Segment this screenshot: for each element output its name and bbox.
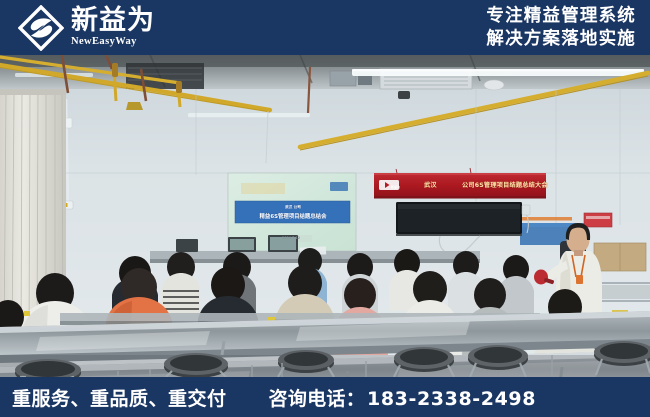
page-footer: 重服务、重品质、重交付 咨询电话： 183-2338-2498 — [0, 377, 650, 417]
brand-name-en: NewEasyWay — [71, 36, 137, 48]
slogan-line-2: 解决方案落地实施 — [486, 28, 636, 51]
meeting-room-photo: 武汉 公司 精益6S管理项目结题总结会 2024.7.12 新益为 武汉 公司6… — [0, 55, 650, 377]
promotional-banner-page: 新益为 NewEasyWay 专注精益管理系统 解决方案落地实施 — [0, 0, 650, 417]
footer-contact[interactable]: 咨询电话： 183-2338-2498 — [269, 384, 537, 411]
contact-label: 咨询电话： — [269, 384, 366, 411]
footer-tagline: 重服务、重品质、重交付 — [0, 384, 227, 411]
brand-logo[interactable]: 新益为 NewEasyWay — [0, 5, 155, 51]
diamond-e-logo-icon — [18, 5, 64, 51]
page-header: 新益为 NewEasyWay 专注精益管理系统 解决方案落地实施 — [0, 0, 650, 55]
brand-name-cn: 新益为 — [71, 7, 155, 35]
contact-phone-number[interactable]: 183-2338-2498 — [367, 388, 536, 410]
slogan-line-1: 专注精益管理系统 — [486, 5, 636, 28]
header-slogan: 专注精益管理系统 解决方案落地实施 — [486, 5, 650, 51]
